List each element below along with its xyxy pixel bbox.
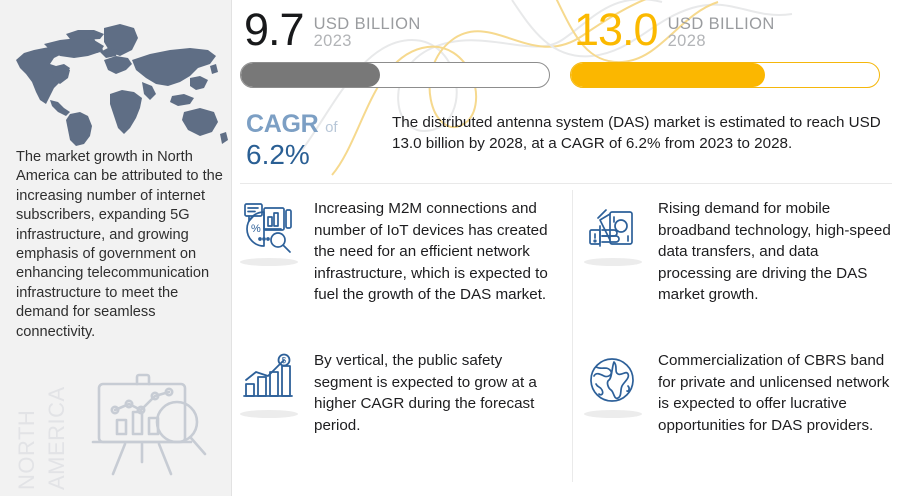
region-description: The market growth in North America can b… — [16, 148, 228, 342]
cagr-value: 6.2% — [246, 140, 396, 170]
cagr-label: CAGR — [246, 110, 318, 138]
stat-value: 13.0 — [574, 8, 658, 52]
cagr-label-row: CAGR of — [246, 110, 396, 139]
feature-card: Rising demand for mobile broadband techn… — [584, 196, 896, 306]
left-panel: The market growth in North America can b… — [0, 0, 232, 496]
stat-unit-wrap: USD BILLION 2028 — [668, 16, 775, 52]
stat-head: 9.7 USD BILLION 2023 — [240, 8, 550, 52]
svg-text:%: % — [251, 223, 261, 235]
vertical-divider — [572, 190, 573, 482]
icon-shadow — [240, 258, 298, 266]
progress-bar-fill — [241, 63, 380, 87]
cagr-of-label: of — [325, 119, 338, 136]
icon-shadow — [240, 410, 298, 418]
progress-bar-2023 — [240, 62, 550, 88]
presentation-chart-magnifier-icon — [85, 366, 215, 486]
horizontal-divider — [240, 183, 892, 184]
summary-text: The distributed antenna system (DAS) mar… — [392, 112, 884, 154]
icon-shadow — [584, 410, 642, 418]
card-text: Rising demand for mobile broadband techn… — [658, 196, 896, 306]
stat-head: 13.0 USD BILLION 2028 — [570, 8, 880, 52]
feature-card: % Increasing M2M connections and number … — [240, 196, 562, 306]
card-text: Commercialization of CBRS band for priva… — [658, 348, 896, 436]
stat-value: 9.7 — [244, 8, 304, 52]
world-map-icon — [4, 8, 230, 148]
region-label-line1: NORTH — [16, 410, 38, 490]
stat-unit: USD BILLION — [668, 16, 775, 33]
progress-bar-2028 — [570, 62, 880, 88]
card-text: Increasing M2M connections and number of… — [314, 196, 562, 306]
card-icon-wrap — [584, 348, 646, 436]
region-label-line2: AMERICA — [46, 386, 68, 490]
icon-shadow — [584, 258, 642, 266]
region-label: NORTH AMERICA — [16, 350, 76, 490]
stat-block-2028: 13.0 USD BILLION 2028 — [570, 8, 880, 88]
card-text: By vertical, the public safety segment i… — [314, 348, 562, 436]
hand-holding-money-icon — [584, 200, 642, 258]
stat-year: 2023 — [314, 33, 421, 50]
progress-bar-fill — [571, 63, 765, 87]
card-icon-wrap: $ — [240, 348, 302, 436]
feature-card: Commercialization of CBRS band for priva… — [584, 348, 896, 436]
stat-unit: USD BILLION — [314, 16, 421, 33]
growth-bar-chart-dollar-icon: $ — [240, 352, 298, 410]
stat-unit-wrap: USD BILLION 2023 — [314, 16, 421, 52]
stat-year: 2028 — [668, 33, 775, 50]
feature-card: $ By vertical, the public safety segment… — [240, 348, 562, 436]
right-panel: 9.7 USD BILLION 2023 13.0 USD BILLION 20… — [232, 0, 900, 496]
pie-bar-chart-magnifier-icon: % — [240, 200, 298, 258]
card-icon-wrap: % — [240, 196, 302, 306]
stat-block-2023: 9.7 USD BILLION 2023 — [240, 8, 550, 88]
svg-text:$: $ — [282, 356, 287, 365]
cagr-block: CAGR of 6.2% — [246, 110, 396, 170]
card-icon-wrap — [584, 196, 646, 306]
globe-icon — [584, 352, 642, 410]
